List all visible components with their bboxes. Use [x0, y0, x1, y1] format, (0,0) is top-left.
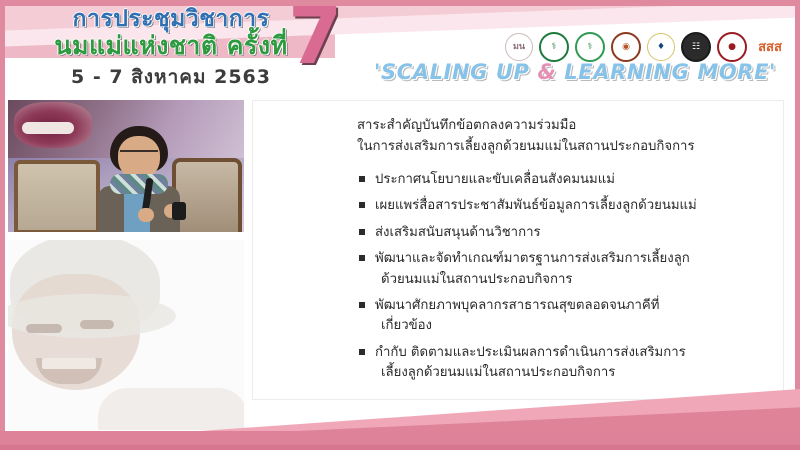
- bullet-line1: พัฒนาศักยภาพบุคลากรสาธารณสุขตลอดจนภาคีที…: [375, 298, 659, 313]
- conference-title-line2: นมแม่แห่งชาติ ครั้งที่: [21, 33, 321, 58]
- bullet-item: เผยแพร่สื่อสารประชาสัมพันธ์ข้อมูลการเลี้…: [359, 196, 765, 216]
- slide-frame-bottom: [0, 445, 800, 450]
- content-heading-line2: ในการส่งเสริมการเลี้ยงลูกด้วยนมแม่ในสถาน…: [357, 136, 765, 157]
- slide-header: การประชุมวิชาการ นมแม่แห่งชาติ ครั้งที่ …: [5, 6, 795, 94]
- logo-thaihealth-icon: สสส: [753, 34, 787, 60]
- slogan-ampersand: &: [537, 60, 556, 84]
- slogan-text-left: 'SCALING UP: [374, 60, 538, 84]
- logo-department-health-icon: ⚕: [575, 32, 605, 62]
- content-heading-line1: สาระสำคัญบันทึกข้อตกลงความร่วมมือ: [357, 115, 765, 136]
- bullet-line1: ส่งเสริมสนับสนุนด้านวิชาการ: [375, 225, 541, 240]
- slide-frame-right: [795, 0, 800, 450]
- child-teeth: [42, 358, 96, 369]
- logo-ministry-public-health-icon: ⚕: [539, 32, 569, 62]
- child-eye-left: [26, 324, 62, 333]
- bullet-line2: เกี่ยวข้อง: [375, 316, 765, 336]
- speaker-glasses-icon: [120, 150, 158, 160]
- child-eye-right: [80, 320, 114, 329]
- bullet-item: พัฒนาศักยภาพบุคลากรสาธารณสุขตลอดจนภาคีที…: [359, 296, 765, 337]
- logo-thai-breastfeeding-foundation-icon: มน: [505, 33, 533, 61]
- bullet-item: ประกาศนโยบายและขับเคลื่อนสังคมนมแม่: [359, 170, 765, 190]
- agreement-bullet-list: ประกาศนโยบายและขับเคลื่อนสังคมนมแม่ เผยแ…: [275, 170, 765, 384]
- conference-speaker-video: [8, 100, 244, 232]
- wedge-solid-strip: [0, 431, 800, 445]
- bullet-line1: กำกับ ติดตามและประเมินผลการดำเนินการส่งเ…: [375, 345, 686, 360]
- slogan-text-right: LEARNING MORE': [556, 60, 776, 84]
- backdrop-teeth-graphic: [22, 122, 74, 134]
- bullet-item: พัฒนาและจัดทำเกณฑ์มาตรฐานการส่งเสริมการเ…: [359, 249, 765, 290]
- logo-red-seal-icon: ●: [717, 32, 747, 62]
- logo-royal-crest-icon: ♦: [647, 33, 675, 61]
- edition-number-seven: 7: [288, 6, 342, 76]
- speaker-figure: [92, 126, 186, 232]
- bullet-item: ส่งเสริมสนับสนุนด้านวิชาการ: [359, 223, 765, 243]
- logo-royal-emblem-icon: ◉: [611, 32, 641, 62]
- content-card: สาระสำคัญบันทึกข้อตกลงความร่วมมือ ในการส…: [252, 100, 784, 400]
- stage-chair-left: [14, 160, 100, 232]
- logo-black-seal-icon: ☷: [681, 32, 711, 62]
- bullet-line1: เผยแพร่สื่อสารประชาสัมพันธ์ข้อมูลการเลี้…: [375, 198, 697, 213]
- conference-title-block: การประชุมวิชาการ นมแม่แห่งชาติ ครั้งที่ …: [21, 8, 321, 92]
- speaker-hand-left: [138, 208, 154, 222]
- bullet-line2: ด้วยนมแม่ในสถานประกอบกิจการ: [375, 270, 765, 290]
- bottom-pink-wedge: [0, 389, 800, 445]
- conference-slogan: 'SCALING UP & LEARNING MORE': [365, 60, 785, 84]
- conference-date: 5 - 7 สิงหาคม 2563: [21, 62, 321, 92]
- content-heading: สาระสำคัญบันทึกข้อตกลงความร่วมมือ ในการส…: [357, 115, 765, 158]
- bullet-line1: พัฒนาและจัดทำเกณฑ์มาตรฐานการส่งเสริมการเ…: [375, 251, 690, 266]
- conference-title-line1: การประชุมวิชาการ: [21, 8, 321, 31]
- speaker-scarf: [110, 174, 168, 194]
- bullet-item: กำกับ ติดตามและประเมินผลการดำเนินการส่งเ…: [359, 343, 765, 384]
- presentation-slide: การประชุมวิชาการ นมแม่แห่งชาติ ครั้งที่ …: [0, 0, 800, 450]
- presenter-remote-icon: [172, 202, 186, 220]
- sponsor-logo-strip: มน ⚕ ⚕ ◉ ♦ ☷ ● สสส: [505, 32, 787, 62]
- bullet-line2: เลี้ยงลูกด้วยนมแม่ในสถานประกอบกิจการ: [375, 363, 765, 383]
- bullet-line1: ประกาศนโยบายและขับเคลื่อนสังคมนมแม่: [375, 172, 615, 187]
